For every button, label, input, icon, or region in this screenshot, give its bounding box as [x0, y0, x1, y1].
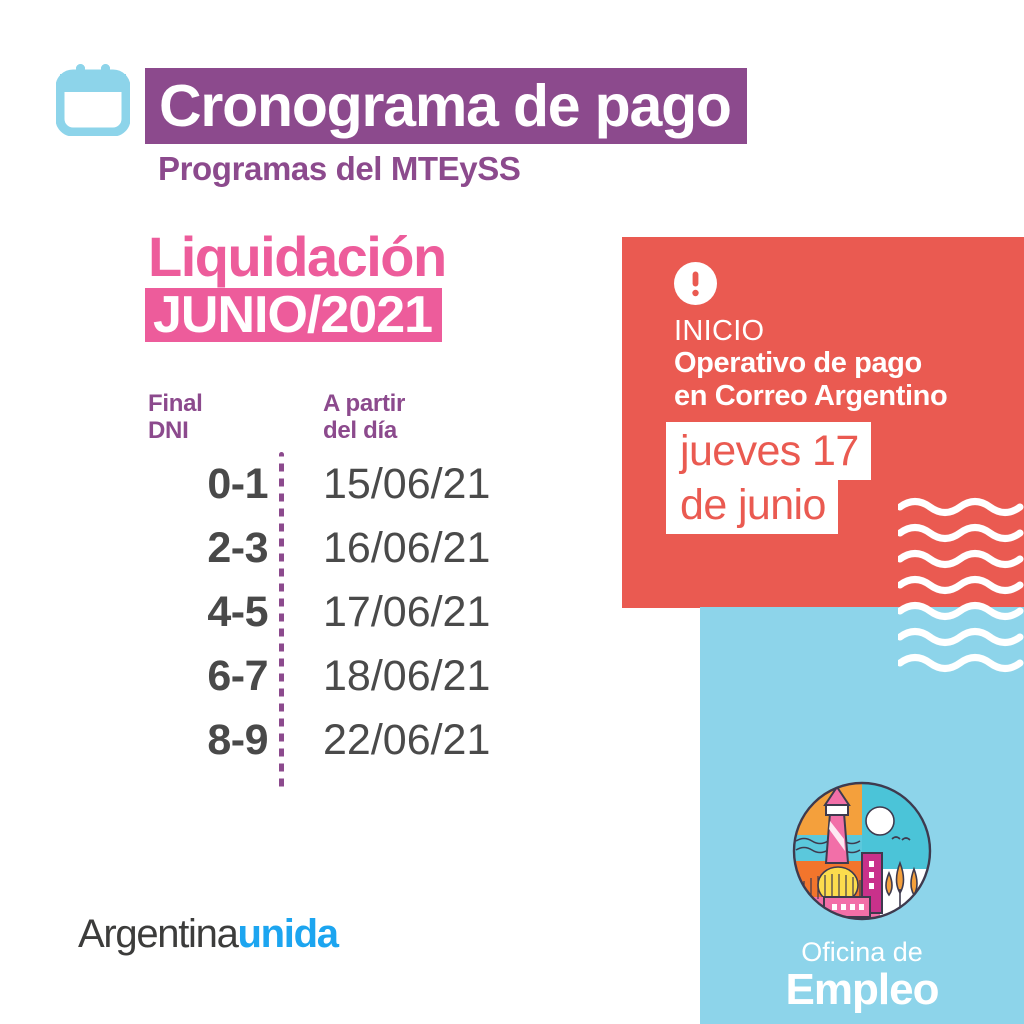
argentina-unida-word1: Argentina: [78, 912, 238, 956]
alert-description-line2: en Correo Argentino: [674, 380, 947, 413]
column-header-dni-line1: Final: [148, 390, 203, 417]
office-name-line2: Empleo: [700, 965, 1024, 1015]
column-header-date-line1: A partir: [323, 390, 405, 417]
column-header-date: A partir del día: [323, 390, 405, 444]
cell-dni: 2-3: [148, 516, 268, 580]
liquidacion-label: Liquidación: [148, 228, 446, 286]
table-row: 0-1 15/06/21: [148, 452, 578, 516]
table-header-row: Final DNI A partir del día: [148, 390, 578, 452]
cell-date: 17/06/21: [323, 580, 490, 644]
column-header-dni: Final DNI: [148, 390, 203, 444]
alert-description-line1: Operativo de pago: [674, 347, 947, 380]
office-name-line1: Oficina de: [700, 937, 1024, 968]
alert-date-line1: jueves 17: [666, 422, 871, 480]
alert-description: Operativo de pago en Correo Argentino: [674, 347, 947, 413]
table-row: 6-7 18/06/21: [148, 644, 578, 708]
cell-date: 16/06/21: [323, 516, 490, 580]
page-subtitle: Programas del MTEySS: [158, 150, 520, 188]
cell-date: 22/06/21: [323, 708, 490, 772]
calendar-icon: [56, 62, 130, 136]
column-header-date-line2: del día: [323, 417, 405, 444]
table-row: 4-5 17/06/21: [148, 580, 578, 644]
exclamation-circle-icon: [674, 262, 717, 305]
cell-dni: 6-7: [148, 644, 268, 708]
header: Cronograma de pago Programas del MTEySS: [0, 0, 1024, 200]
alert-date-line2: de junio: [666, 476, 838, 534]
oficina-de-empleo-logo-icon: [788, 777, 936, 925]
cell-date: 15/06/21: [323, 452, 490, 516]
argentina-unida-logo: Argentinaunida: [78, 912, 338, 957]
alert-label: INICIO: [674, 315, 764, 348]
wave-decoration-icon: [898, 495, 1024, 675]
cell-dni: 4-5: [148, 580, 268, 644]
liquidacion-period: JUNIO/2021: [153, 288, 432, 342]
column-header-dni-line2: DNI: [148, 417, 203, 444]
cell-dni: 0-1: [148, 452, 268, 516]
cell-date: 18/06/21: [323, 644, 490, 708]
argentina-unida-word2: unida: [238, 912, 338, 956]
table-row: 8-9 22/06/21: [148, 708, 578, 772]
liquidacion-period-banner: JUNIO/2021: [145, 288, 442, 342]
payment-schedule-table: Final DNI A partir del día 0-1 15/06/21 …: [148, 390, 578, 772]
table-row: 2-3 16/06/21: [148, 516, 578, 580]
title-banner: Cronograma de pago: [145, 68, 747, 144]
cell-dni: 8-9: [148, 708, 268, 772]
page-title: Cronograma de pago: [159, 68, 731, 144]
